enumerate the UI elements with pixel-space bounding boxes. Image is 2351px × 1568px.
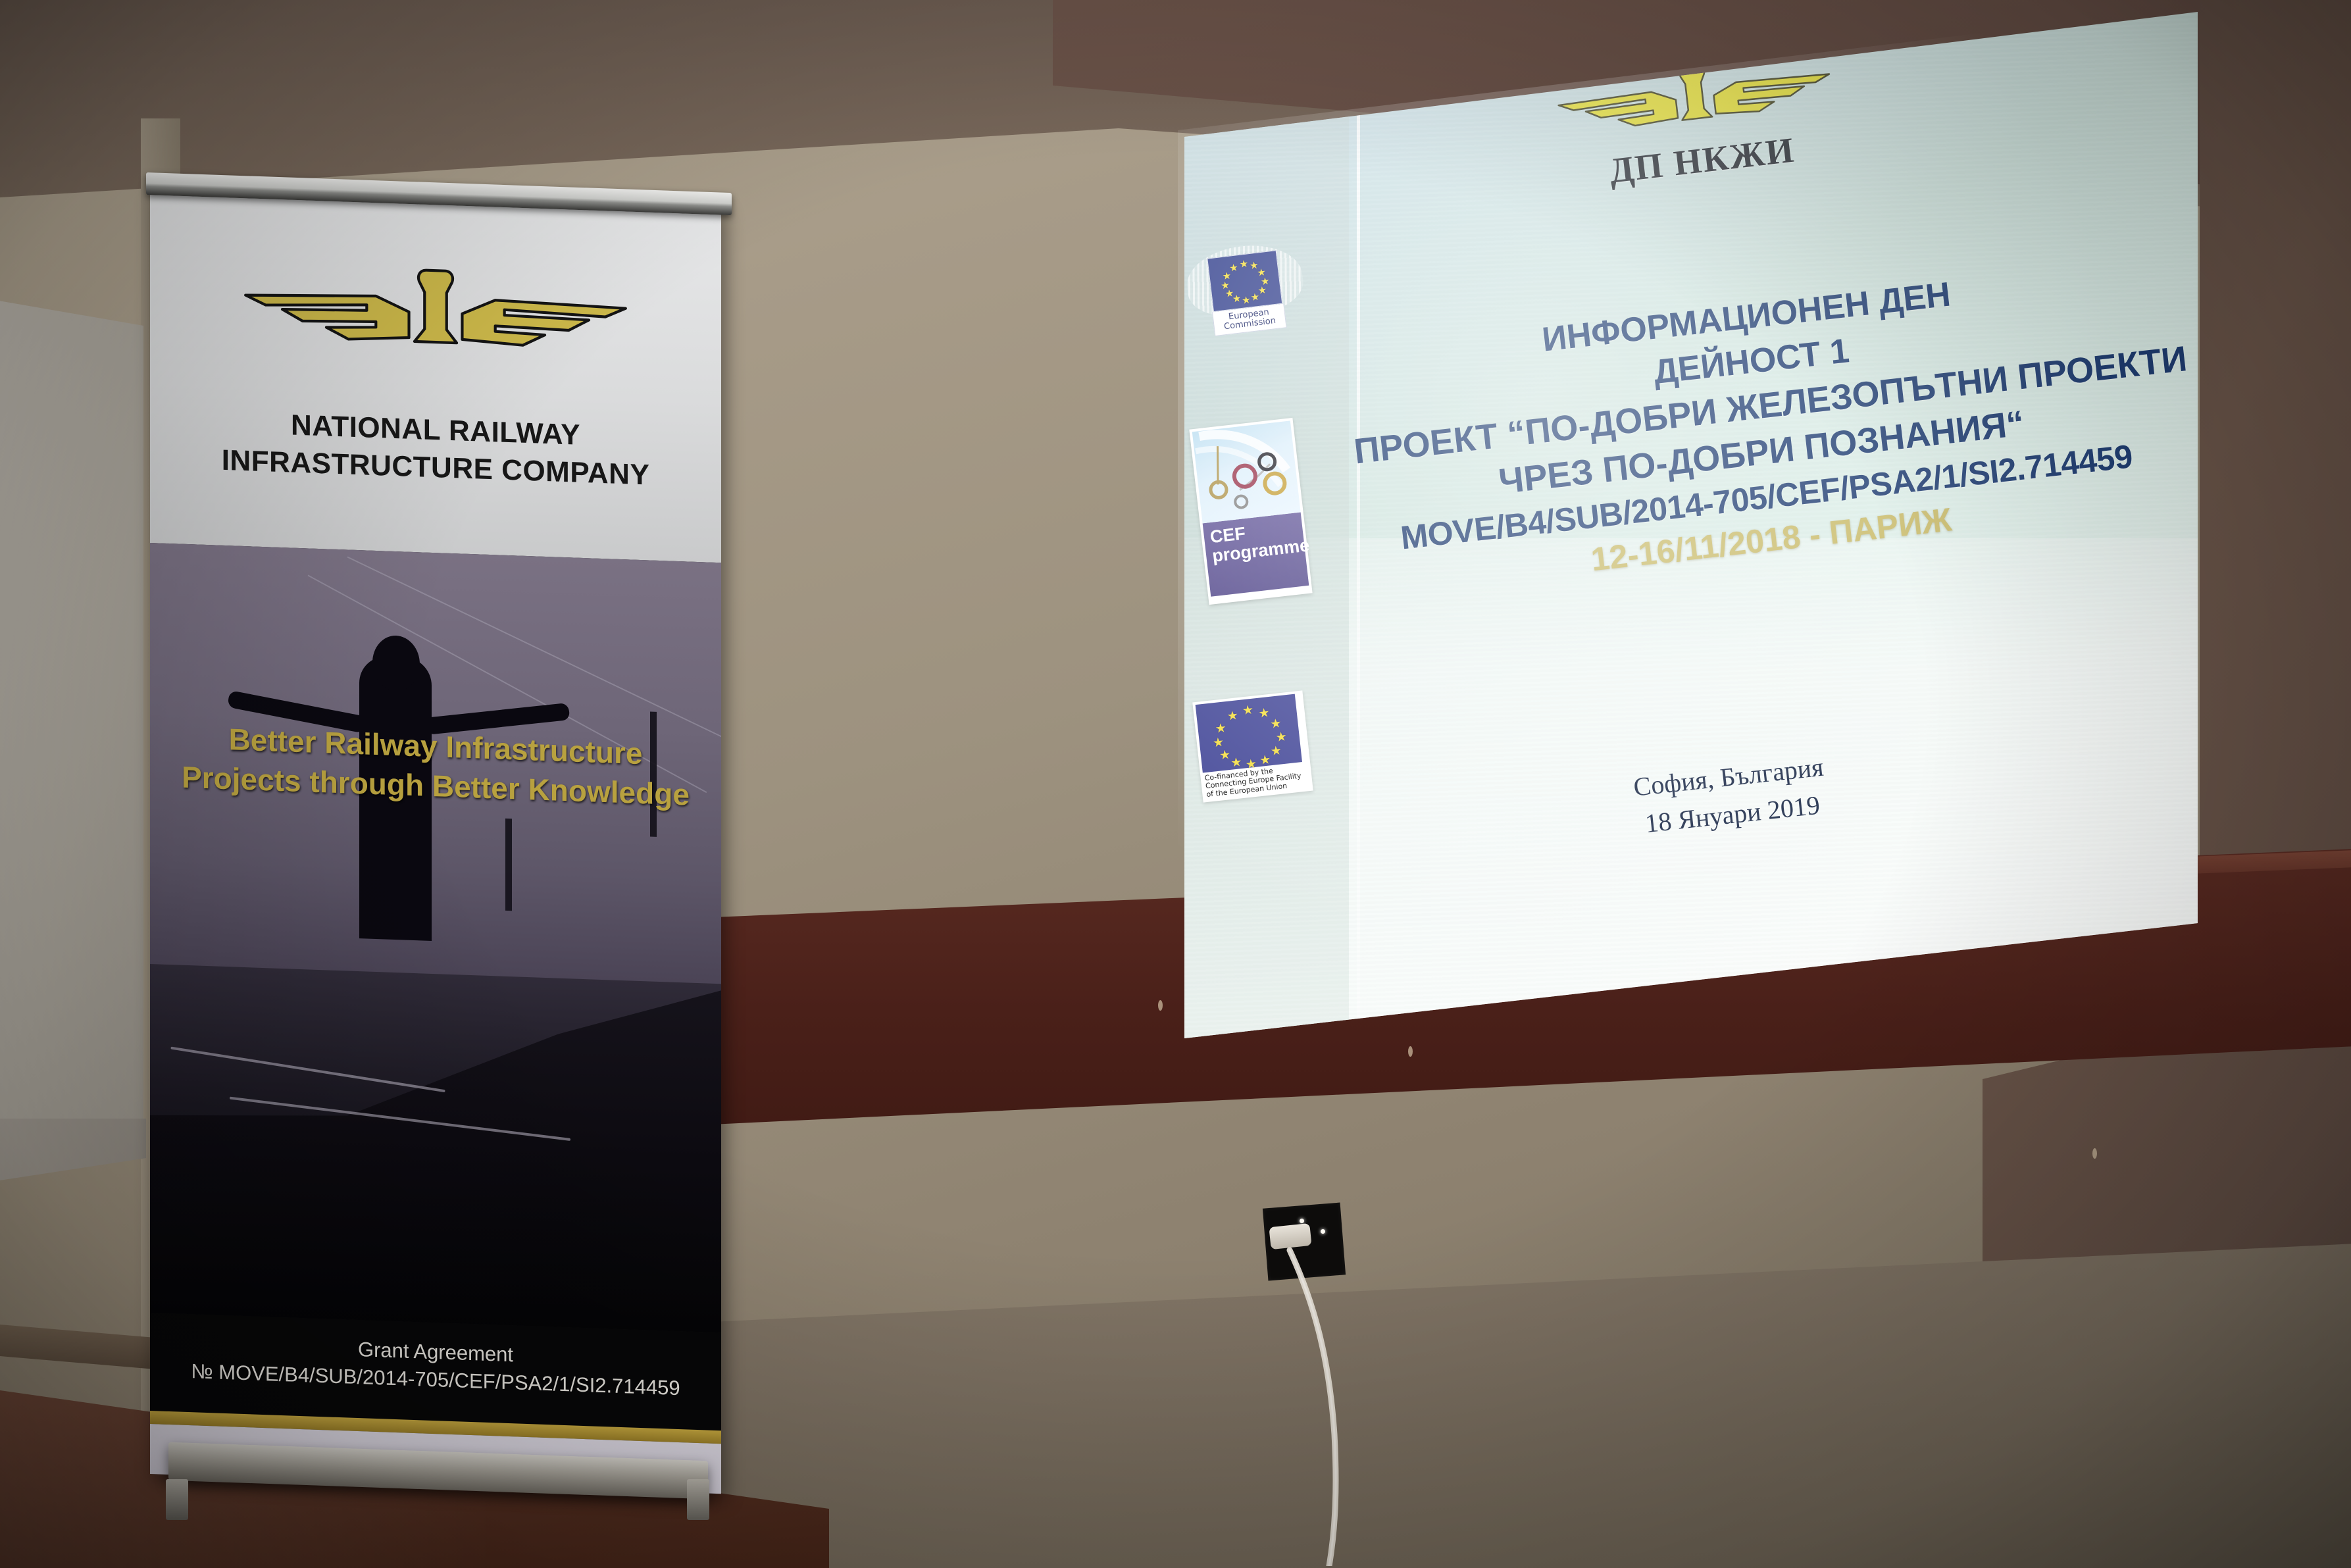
door-panel — [0, 299, 156, 1168]
catenary-pole — [505, 819, 512, 911]
european-commission-logo: ★ ★ ★ ★ ★ ★ ★ ★ ★ ★ ★ ★ European Commiss… — [1198, 249, 1294, 338]
outlet-indicator-icon — [1300, 1219, 1304, 1223]
rollup-banner: NATIONAL RAILWAY INFRASTRUCTURE COMPANY … — [150, 184, 721, 1494]
eu-flag-icon: ★ ★ ★ ★ ★ ★ ★ ★ ★ ★ ★ ★ — [1207, 250, 1282, 312]
cef-graphic — [1192, 420, 1301, 523]
winged-rail-logo — [238, 253, 633, 386]
railway-track — [170, 1047, 445, 1093]
banner-photo: Better Railway Infrastructure Projects t… — [150, 543, 721, 1332]
rail-screw — [2092, 1148, 2097, 1159]
cef-programme-logo: CEF programme — [1189, 418, 1312, 605]
eu-cef-funding-logo: ★ ★ ★ ★ ★ ★ ★ ★ ★ ★ ★ ★ Co-financed by t… — [1192, 690, 1313, 802]
outlet-indicator-icon — [1321, 1229, 1325, 1234]
banner-foot-left — [166, 1479, 188, 1520]
rail-screw — [1408, 1046, 1413, 1057]
nric-organisation-name: NATIONAL RAILWAY INFRASTRUCTURE COMPANY — [150, 401, 721, 497]
banner-header: NATIONAL RAILWAY INFRASTRUCTURE COMPANY — [150, 184, 721, 563]
cef-label: CEF programme — [1203, 512, 1309, 596]
banner-foot-right — [687, 1479, 709, 1520]
projection-screen: ★ ★ ★ ★ ★ ★ ★ ★ ★ ★ ★ ★ European Commiss… — [1184, 12, 2198, 1038]
rail-screw — [1158, 1000, 1163, 1011]
nric-logo-wrap — [150, 250, 721, 392]
power-plug[interactable] — [1269, 1223, 1311, 1250]
room-scene: ★ ★ ★ ★ ★ ★ ★ ★ ★ ★ ★ ★ European Commiss… — [0, 0, 2351, 1568]
eu-flag-icon: ★ ★ ★ ★ ★ ★ ★ ★ ★ ★ ★ ★ — [1196, 694, 1302, 773]
